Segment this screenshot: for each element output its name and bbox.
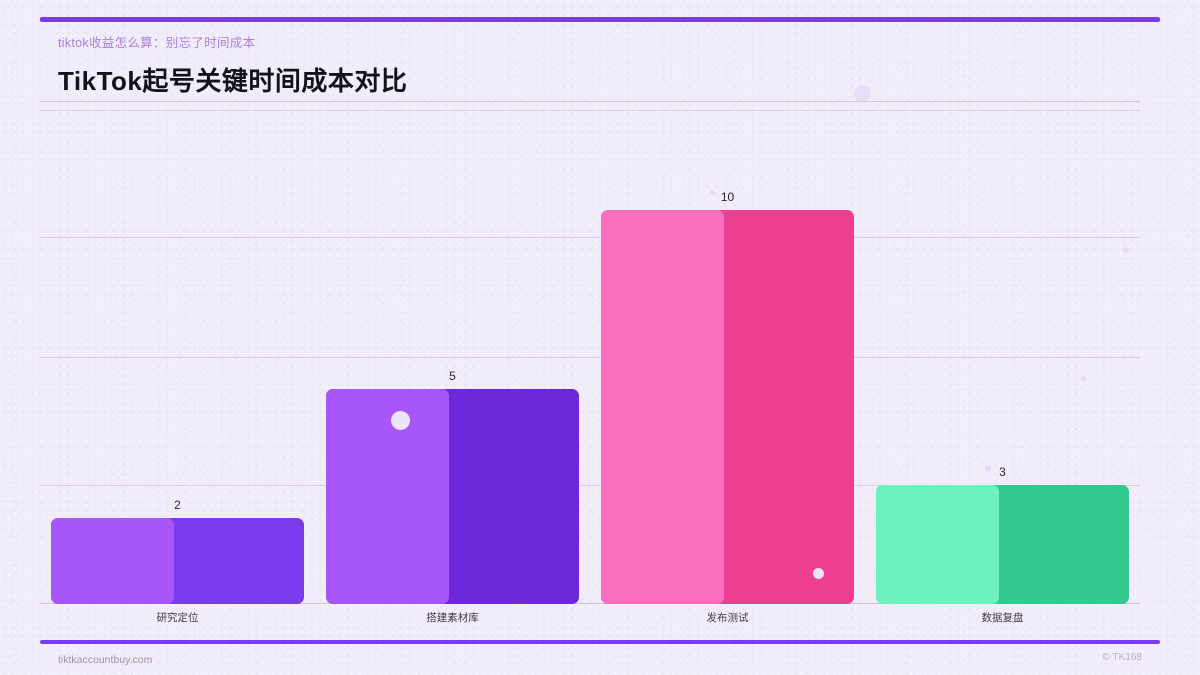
bar-1-accent-dot (391, 411, 410, 430)
bar-2-light-fill (601, 210, 724, 604)
bar-value-label-0: 2 (174, 499, 181, 511)
bar-3[interactable] (876, 485, 1129, 604)
bar-2-accent-dot (813, 568, 824, 579)
bar-value-label-1: 5 (449, 370, 456, 382)
bar-group-2[interactable]: 10 (601, 110, 854, 604)
bar-3-light-fill (876, 485, 999, 604)
footer-site-url: tiktkaccountbuy.com (58, 654, 152, 666)
x-axis-label-2: 发布测试 (601, 610, 854, 625)
bar-0[interactable] (51, 518, 304, 604)
x-axis-labels: 研究定位 搭建素材库 发布测试 数据复盘 (40, 610, 1140, 625)
bar-group-1[interactable]: 5 (326, 110, 579, 604)
footer-copyright: © TK168 (1103, 652, 1142, 663)
bar-0-light-fill (51, 518, 174, 604)
bar-group-0[interactable]: 2 (51, 110, 304, 604)
bar-value-label-2: 10 (721, 191, 734, 203)
decorative-circle-1 (854, 85, 871, 102)
header-divider (40, 101, 1140, 102)
header-kicker: tiktok收益怎么算：别忘了时间成本 (58, 32, 407, 51)
chart-plot-area: 2 5 10 3 (40, 110, 1140, 604)
x-axis-label-0: 研究定位 (51, 610, 304, 625)
bar-series: 2 5 10 3 (40, 110, 1140, 604)
bar-1-light-fill (326, 389, 449, 604)
page-title: TikTok起号关键时间成本对比 (58, 61, 407, 98)
x-axis-label-3: 数据复盘 (876, 610, 1129, 625)
x-axis-label-1: 搭建素材库 (326, 610, 579, 625)
bar-2[interactable] (601, 210, 854, 604)
header: tiktok收益怎么算：别忘了时间成本 TikTok起号关键时间成本对比 (58, 32, 407, 98)
bar-group-3[interactable]: 3 (876, 110, 1129, 604)
footer-accent-bar (40, 640, 1160, 644)
bar-1[interactable] (326, 389, 579, 604)
bar-value-label-3: 3 (999, 466, 1006, 478)
top-accent-bar (40, 17, 1160, 22)
